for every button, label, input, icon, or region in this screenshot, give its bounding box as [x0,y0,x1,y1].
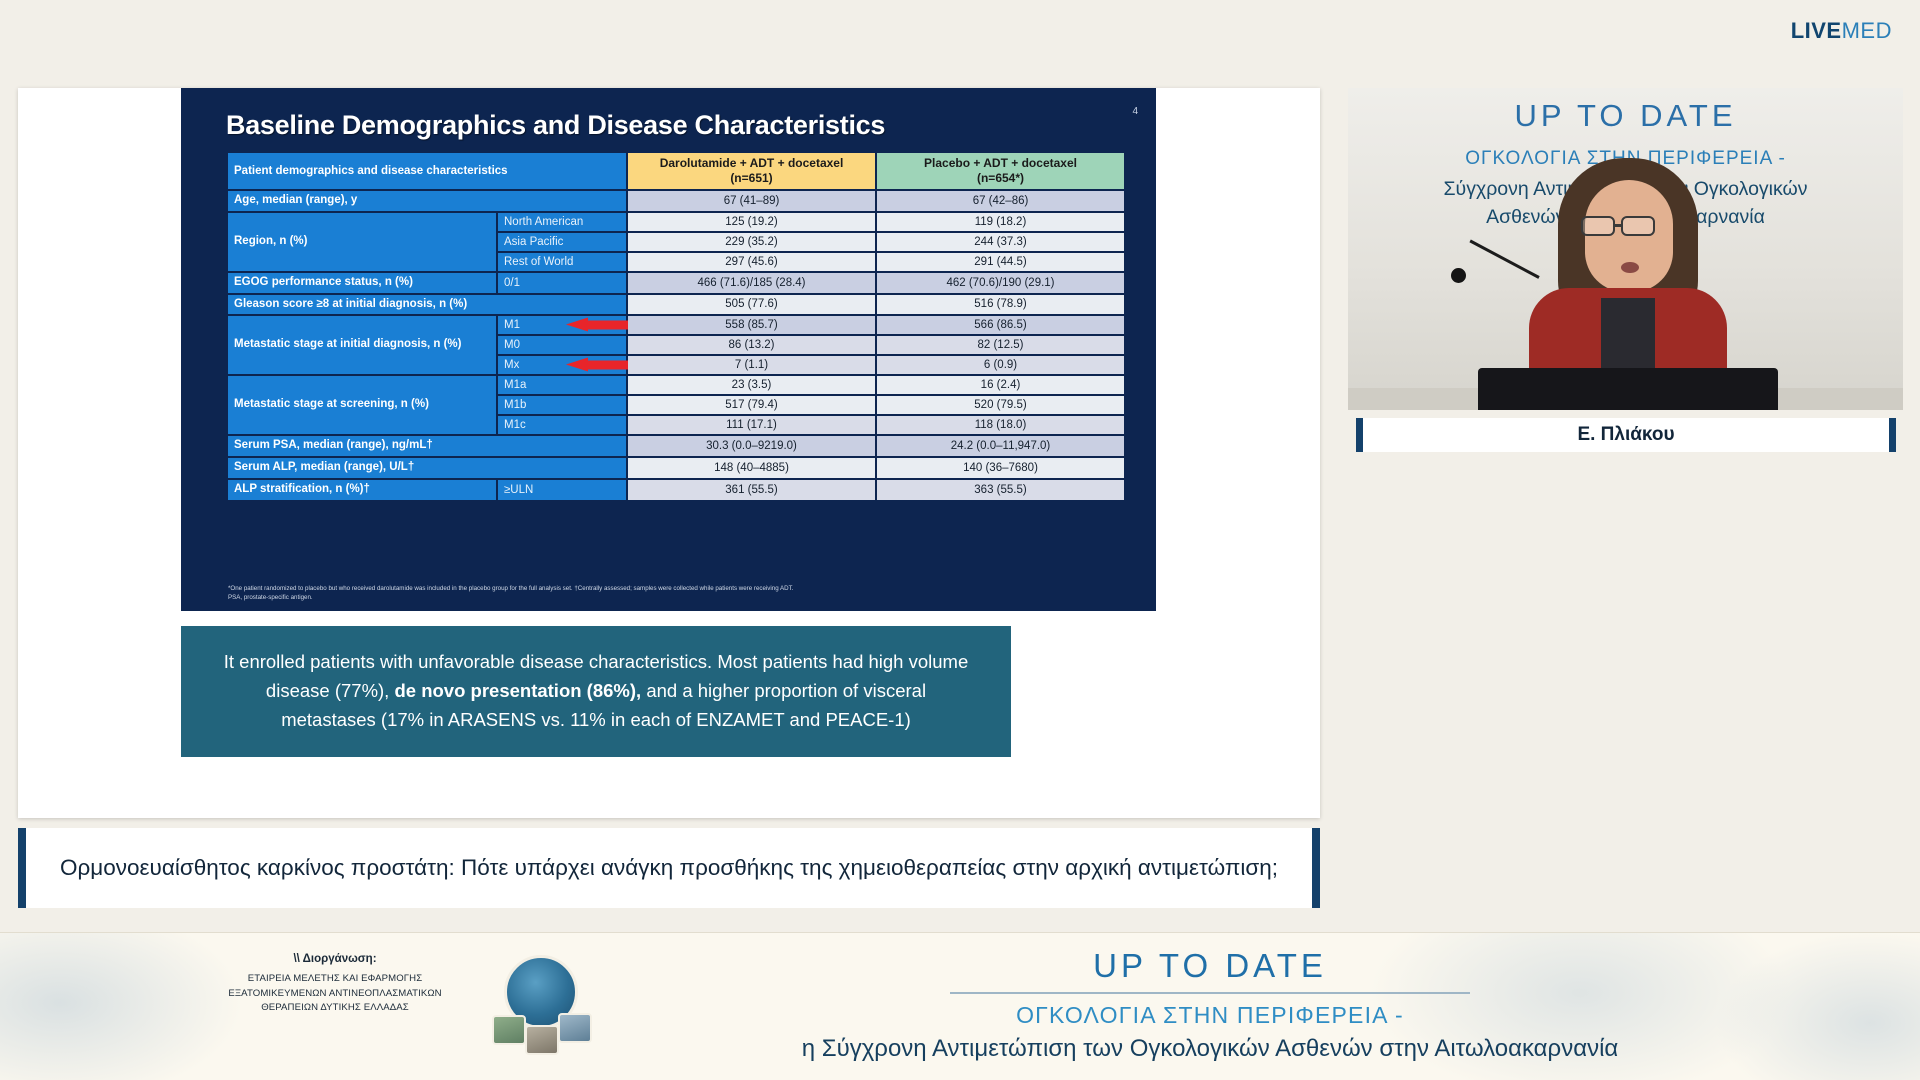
table-row: Metastatic stage at screening, n (%)M1a2… [228,376,1124,394]
row-sublabel: 0/1 [498,273,626,293]
session-title-text: Ορμονοευαίσθητος καρκίνος προστάτη: Πότε… [60,852,1278,883]
speaker-name-plate: Ε. Πλιάκου [1356,418,1896,452]
glasses-right-lens-icon [1621,216,1655,236]
microphone-head-icon [1451,268,1466,283]
organizer-heading: \\ Διοργάνωση: [190,953,480,965]
row-label: Metastatic stage at screening, n (%) [228,376,496,434]
cell-darolutamide: 517 (79.4) [628,396,875,414]
row-sublabel: North American [498,213,626,231]
slide-panel: Baseline Demographics and Disease Charac… [18,88,1320,818]
table-footnote: *One patient randomized to placebo but w… [228,584,1088,603]
row-label: Age, median (range), y [228,191,626,211]
cell-darolutamide: 30.3 (0.0–9219.0) [628,436,875,456]
cell-placebo: 24.2 (0.0–11,947.0) [877,436,1124,456]
laptop [1478,368,1778,410]
header-arm2-line2: (n=654*) [883,171,1118,186]
cell-placebo: 363 (55.5) [877,480,1124,500]
organizer-block: \\ Διοργάνωση: ΕΤΑΙΡΕΙΑ ΜΕΛΕΤΗΣ ΚΑΙ ΕΦΑΡ… [190,953,480,1016]
red-arrow-icon [566,358,628,373]
header-arm-placebo: Placebo + ADT + docetaxel (n=654*) [877,153,1124,189]
table-header-row: Patient demographics and disease charact… [228,153,1124,189]
logo-photo-right [558,1013,592,1043]
speaker-face [1585,180,1673,292]
organizer-line-3: ΘΕΡΑΠΕΙΩΝ ΔΥΤΙΚΗΣ ΕΛΛΑΔΑΣ [190,1001,480,1016]
cell-darolutamide: 297 (45.6) [628,253,875,271]
event-branding: UP TO DATE ΟΓΚΟΛΟΓΙΑ ΣΤΗΝ ΠΕΡΙΦΕΡΕΙΑ - η… [660,947,1760,1063]
row-label: Gleason score ≥8 at initial diagnosis, n… [228,295,626,315]
table-row: EGOG performance status, n (%)0/1466 (71… [228,273,1124,293]
cell-darolutamide: 23 (3.5) [628,376,875,394]
slide-caption-box: It enrolled patients with unfavorable di… [181,626,1011,757]
cell-darolutamide: 466 (71.6)/185 (28.4) [628,273,875,293]
speaker-video[interactable]: UP TO DATE ΟΓΚΟΛΟΓΙΑ ΣΤΗΝ ΠΕΡΙΦΕΡΕΙΑ - Σ… [1348,88,1903,410]
cell-placebo: 6 (0.9) [877,356,1124,374]
cell-placebo: 462 (70.6)/190 (29.1) [877,273,1124,293]
row-sublabel: ≥ULN [498,480,626,500]
event-title: UP TO DATE [660,947,1760,985]
row-sublabel: Rest of World [498,253,626,271]
table-row: Metastatic stage at initial diagnosis, n… [228,316,1124,334]
header-arm2-line1: Placebo + ADT + docetaxel [883,156,1118,171]
cell-placebo: 118 (18.0) [877,416,1124,434]
row-sublabel: M0 [498,336,626,354]
row-label: Region, n (%) [228,213,496,271]
footnote-line-2: PSA, prostate-specific antigen. [228,593,1088,603]
cell-placebo: 140 (36–7680) [877,458,1124,478]
speaker-mouth [1621,262,1639,273]
header-characteristics: Patient demographics and disease charact… [228,153,626,189]
footer-branding-strip: \\ Διοργάνωση: ΕΤΑΙΡΕΙΑ ΜΕΛΕΤΗΣ ΚΑΙ ΕΦΑΡ… [0,932,1920,1080]
backdrop-title: UP TO DATE [1348,98,1903,134]
row-label: Metastatic stage at initial diagnosis, n… [228,316,496,374]
cell-darolutamide: 229 (35.2) [628,233,875,251]
row-label: Serum PSA, median (range), ng/mL† [228,436,626,456]
organizer-line-1: ΕΤΑΙΡΕΙΑ ΜΕΛΕΤΗΣ ΚΑΙ ΕΦΑΡΜΟΓΗΣ [190,972,480,987]
cell-placebo: 82 (12.5) [877,336,1124,354]
cell-darolutamide: 67 (41–89) [628,191,875,211]
slide-number: 4 [1132,106,1138,117]
logo-photo-center [525,1025,559,1055]
cell-darolutamide: 505 (77.6) [628,295,875,315]
cell-darolutamide: 125 (19.2) [628,213,875,231]
organizer-names: ΕΤΑΙΡΕΙΑ ΜΕΛΕΤΗΣ ΚΑΙ ΕΦΑΡΜΟΓΗΣ ΕΞΑΤΟΜΙΚΕ… [190,972,480,1016]
presentation-slide: Baseline Demographics and Disease Charac… [181,88,1156,611]
header-arm1-line2: (n=651) [634,171,869,186]
livemed-logo: LIVEMED [1791,18,1892,44]
cell-placebo: 119 (18.2) [877,213,1124,231]
cell-darolutamide: 111 (17.1) [628,416,875,434]
table-row: Region, n (%)North American125 (19.2)119… [228,213,1124,231]
row-sublabel: M1a [498,376,626,394]
table-row: Gleason score ≥8 at initial diagnosis, n… [228,295,1124,315]
speaker-name: Ε. Πλιάκου [1577,424,1674,446]
livemed-logo-live: LIVE [1791,18,1842,43]
cell-placebo: 16 (2.4) [877,376,1124,394]
cell-darolutamide: 86 (13.2) [628,336,875,354]
cell-placebo: 566 (86.5) [877,316,1124,334]
row-sublabel: M1 [498,316,626,334]
red-arrow-icon [566,318,628,333]
cell-darolutamide: 361 (55.5) [628,480,875,500]
event-subtitle-1: ΟΓΚΟΛΟΓΙΑ ΣΤΗΝ ΠΕΡΙΦΕΡΕΙΑ - [660,1002,1760,1029]
table-row: ALP stratification, n (%)†≥ULN361 (55.5)… [228,480,1124,500]
cell-placebo: 520 (79.5) [877,396,1124,414]
header-arm1-line1: Darolutamide + ADT + docetaxel [634,156,869,171]
cell-placebo: 244 (37.3) [877,233,1124,251]
row-label: EGOG performance status, n (%) [228,273,496,293]
row-sublabel: M1b [498,396,626,414]
row-label: Serum ALP, median (range), U/L† [228,458,626,478]
cell-placebo: 291 (44.5) [877,253,1124,271]
table-body: Age, median (range), y67 (41–89)67 (42–8… [228,191,1124,500]
table-row: Age, median (range), y67 (41–89)67 (42–8… [228,191,1124,211]
organizer-line-2: ΕΞΑΤΟΜΙΚΕΥΜΕΝΩΝ ΑΝΤΙΝΕΟΠΛΑΣΜΑΤΙΚΩΝ [190,987,480,1002]
row-sublabel: M1c [498,416,626,434]
slide-title: Baseline Demographics and Disease Charac… [226,110,885,141]
session-title-bar: Ορμονοευαίσθητος καρκίνος προστάτη: Πότε… [18,828,1320,908]
footnote-line-1: *One patient randomized to placebo but w… [228,584,1088,594]
event-subtitle-2: η Σύγχρονη Αντιμετώπιση των Ογκολογικών … [660,1035,1760,1063]
logo-photo-left [492,1015,526,1045]
event-divider [950,992,1470,994]
cell-darolutamide: 558 (85.7) [628,316,875,334]
caption-bold: de novo presentation (86%), [394,680,641,701]
row-sublabel: Mx [498,356,626,374]
glasses-left-lens-icon [1581,216,1615,236]
table-row: Serum PSA, median (range), ng/mL†30.3 (0… [228,436,1124,456]
slide-caption-text: It enrolled patients with unfavorable di… [221,648,971,734]
livemed-logo-med: MED [1842,18,1892,43]
baseline-demographics-table: Patient demographics and disease charact… [226,151,1126,502]
table-row: Serum ALP, median (range), U/L†148 (40–4… [228,458,1124,478]
header-arm-darolutamide: Darolutamide + ADT + docetaxel (n=651) [628,153,875,189]
cell-darolutamide: 148 (40–4885) [628,458,875,478]
glasses-bridge-icon [1615,224,1623,227]
cell-placebo: 67 (42–86) [877,191,1124,211]
row-label: ALP stratification, n (%)† [228,480,496,500]
cell-placebo: 516 (78.9) [877,295,1124,315]
cell-darolutamide: 7 (1.1) [628,356,875,374]
organizer-logo-icon [492,955,596,1059]
row-sublabel: Asia Pacific [498,233,626,251]
